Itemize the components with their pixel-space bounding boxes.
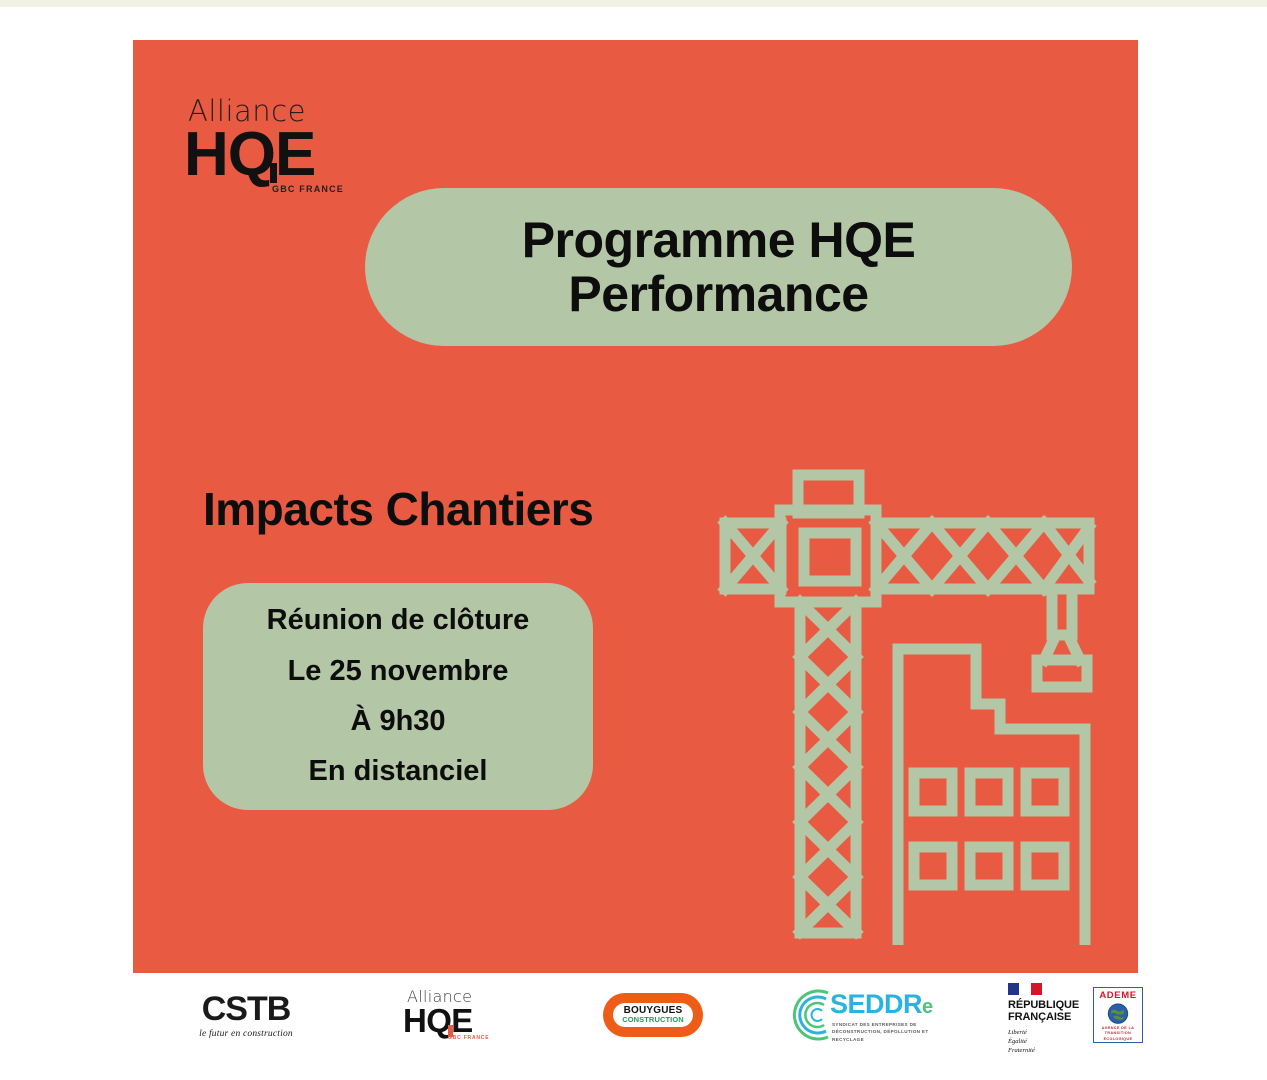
logo-seddre-suffix: e	[922, 996, 933, 1018]
alliance-hqe-logo-gbc-text: GBC FRANCE	[272, 185, 344, 194]
logo-rf-motto-egalite: Égalité	[1008, 1037, 1092, 1046]
event-detail-meeting-type: Réunion de clôture	[267, 597, 530, 644]
alliance-hqe-logo-q-tail	[270, 163, 277, 183]
logo-cstb-tagline: le futur en construction	[199, 1029, 293, 1039]
logo-bouygues-construction: BOUYGUES CONSTRUCTION	[563, 975, 743, 1055]
logo-ademe-word: ADEME	[1099, 991, 1136, 1001]
logo-alliance-hqe-gbc-text: GBC FRANCE	[448, 1036, 489, 1041]
logo-seddre-word: SEDDRe	[830, 991, 933, 1018]
construction-crane-icon	[708, 455, 1108, 945]
logo-seddre: SEDDRe Syndicat des entreprises de décon…	[763, 975, 973, 1055]
logo-ademe: ADEME Agence de la transition écologique	[1088, 975, 1148, 1055]
event-detail-location: En distanciel	[309, 748, 488, 795]
event-details-pill: Réunion de clôture Le 25 novembre À 9h30…	[203, 583, 593, 810]
logo-alliance-hqe: Alliance HQE GBC FRANCE	[361, 975, 531, 1055]
logo-rf-motto-fraternite: Fraternité	[1008, 1046, 1092, 1055]
logo-alliance-hqe-hqe-text: HQE	[403, 1004, 473, 1037]
logo-cstb: CSTB le futur en construction	[161, 975, 331, 1055]
page-title-line-2: Performance	[568, 267, 868, 321]
logo-cstb-word: CSTB	[199, 992, 293, 1026]
page-title-line-1: Programme HQE	[522, 213, 916, 267]
logo-bouygues-division: CONSTRUCTION	[622, 1016, 684, 1024]
title-pill: Programme HQE Performance	[365, 188, 1072, 346]
logo-rf-motto-liberte: Liberté	[1008, 1028, 1092, 1037]
poster-panel: Alliance HQE GBC FRANCE Programme HQE Pe…	[133, 40, 1138, 973]
globe-icon	[1107, 1003, 1129, 1024]
section-heading: Impacts Chantiers	[203, 482, 593, 536]
french-flag-icon	[1008, 983, 1042, 995]
logo-seddre-subtitle: Syndicat des entreprises de déconstructi…	[832, 1021, 952, 1043]
logo-ademe-subtitle: Agence de la transition écologique	[1094, 1026, 1142, 1042]
logo-rf-line-2: FRANÇAISE	[1008, 1011, 1092, 1023]
alliance-hqe-logo: Alliance HQE GBC FRANCE	[176, 97, 346, 197]
top-edge-strip	[0, 0, 1267, 7]
event-detail-date: Le 25 novembre	[288, 648, 509, 695]
alliance-hqe-logo-hqe-text: HQE	[184, 124, 315, 186]
event-detail-time: À 9h30	[350, 698, 445, 745]
logo-rf-line-1: RÉPUBLIQUE	[1008, 999, 1092, 1011]
partner-logos-footer: CSTB le futur en construction Alliance H…	[133, 975, 1138, 1065]
